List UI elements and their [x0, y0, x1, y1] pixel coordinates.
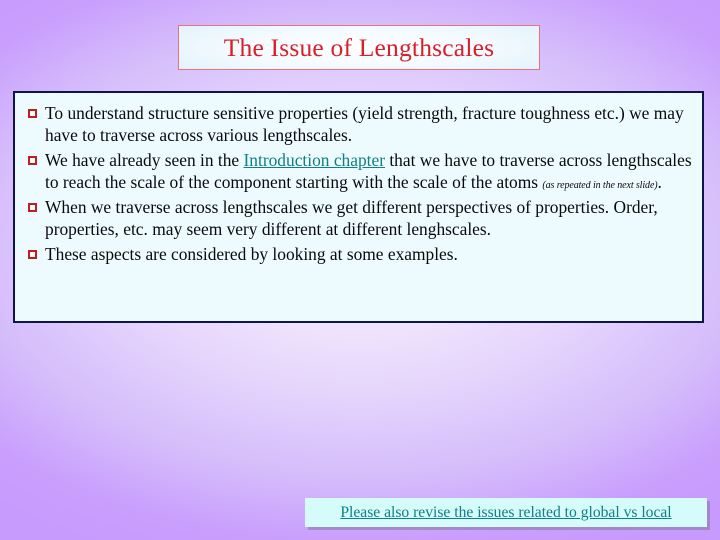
slide-title-box: The Issue of Lengthscales	[178, 25, 540, 70]
content-body-box: To understand structure sensitive proper…	[13, 91, 704, 323]
hollow-square-bullet-icon	[19, 243, 45, 259]
hollow-square-bullet-icon	[19, 149, 45, 165]
hollow-square-bullet-glyph	[28, 156, 37, 165]
bullet-fineprint-note: (as repeated in the next slide)	[542, 180, 657, 191]
bullet-item: These aspects are considered by looking …	[19, 243, 694, 265]
bullet-text-run: To understand structure sensitive proper…	[45, 103, 684, 145]
introduction-chapter-link[interactable]: Introduction chapter	[244, 150, 386, 170]
hollow-square-bullet-glyph	[28, 109, 37, 118]
hollow-square-bullet-icon	[19, 102, 45, 118]
bullet-text: To understand structure sensitive proper…	[45, 102, 694, 147]
hollow-square-bullet-glyph	[28, 250, 37, 259]
slide-canvas: The Issue of Lengthscales To understand …	[0, 0, 720, 540]
page-title: The Issue of Lengthscales	[224, 35, 495, 61]
hollow-square-bullet-glyph	[28, 203, 37, 212]
bullet-item: To understand structure sensitive proper…	[19, 102, 694, 147]
global-vs-local-link-box[interactable]: Please also revise the issues related to…	[305, 498, 707, 527]
bullet-item: When we traverse across lengthscales we …	[19, 196, 694, 241]
bullet-text: We have already seen in the Introduction…	[45, 149, 694, 194]
bullet-text: These aspects are considered by looking …	[45, 243, 694, 265]
bullet-item: We have already seen in the Introduction…	[19, 149, 694, 194]
bullet-text-run: These aspects are considered by looking …	[45, 244, 458, 264]
bullet-text-run: When we traverse across lengthscales we …	[45, 197, 658, 239]
bullet-text-run: We have already seen in the	[45, 150, 244, 170]
bullet-list: To understand structure sensitive proper…	[19, 102, 694, 265]
bullet-text: When we traverse across lengthscales we …	[45, 196, 694, 241]
bullet-text-run: .	[658, 172, 662, 192]
hollow-square-bullet-icon	[19, 196, 45, 212]
global-vs-local-link[interactable]: Please also revise the issues related to…	[340, 505, 671, 521]
